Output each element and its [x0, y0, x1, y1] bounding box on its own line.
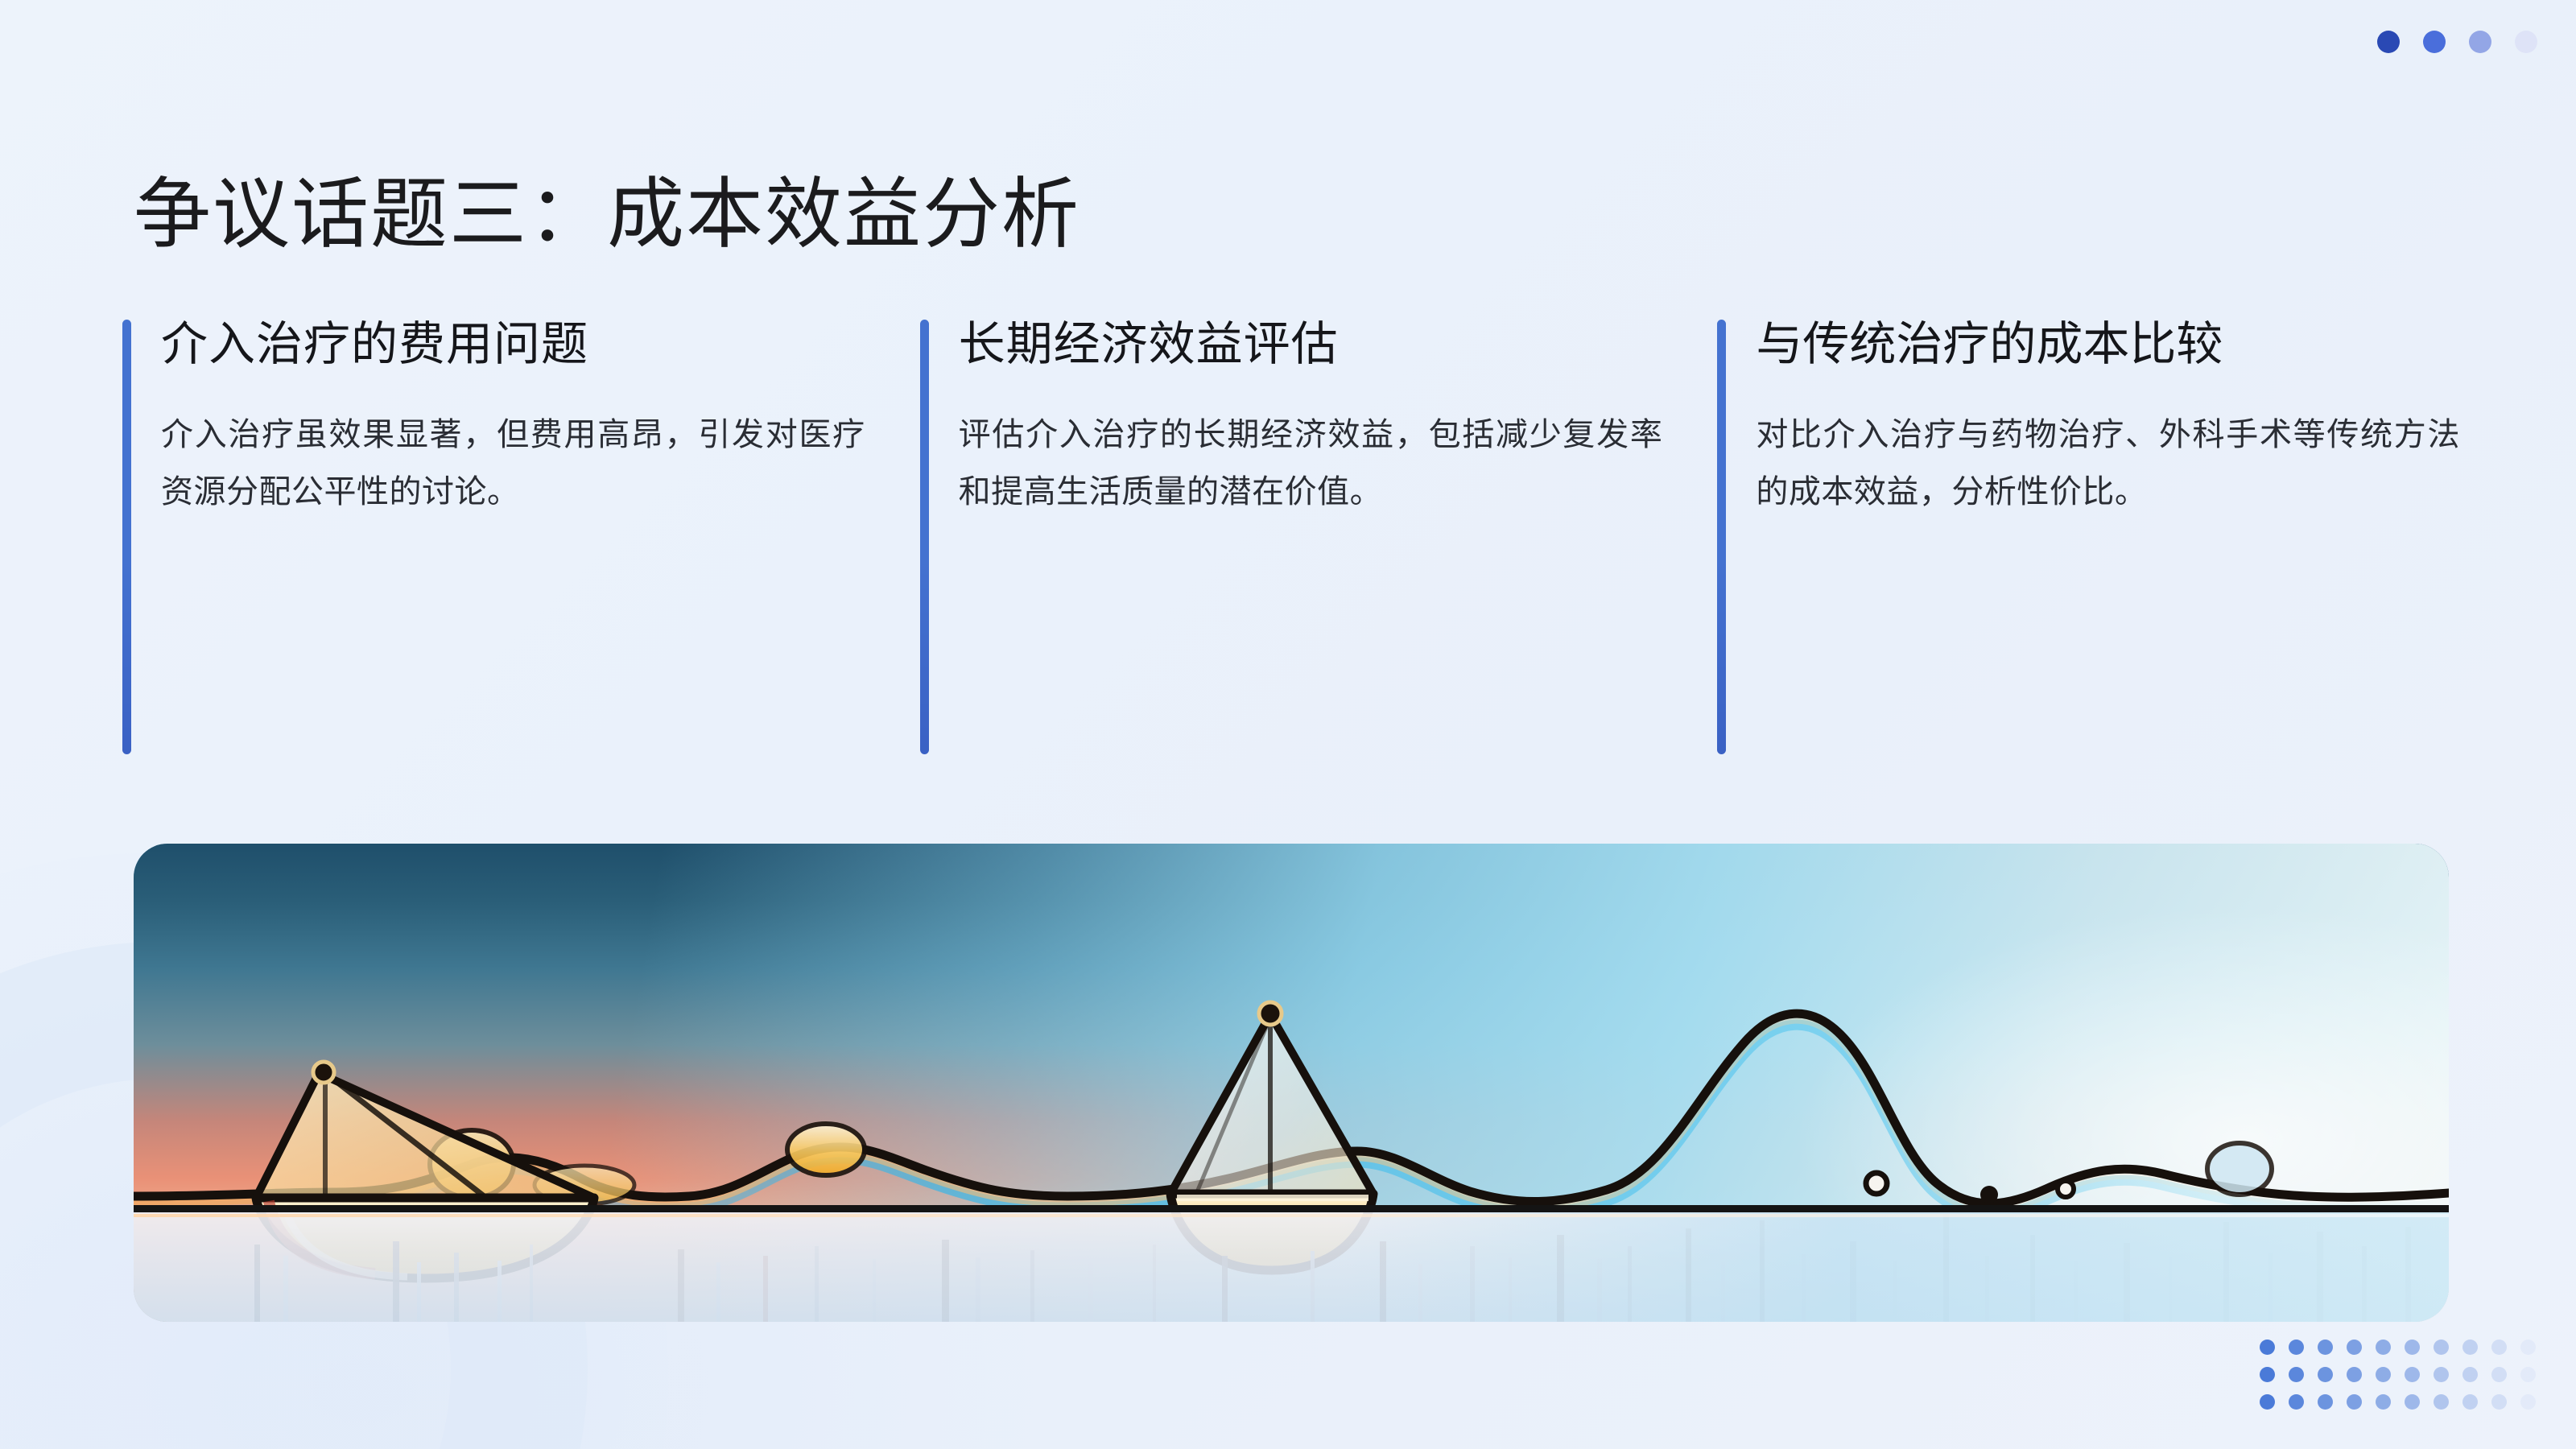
decorative-dot-grid: [2252, 1333, 2542, 1415]
grid-dot: [2289, 1367, 2304, 1382]
grid-dot: [2289, 1394, 2304, 1410]
page-dot-3[interactable]: [2469, 31, 2491, 53]
illustration-horizon-line: [134, 1205, 2449, 1212]
grid-dot: [2260, 1340, 2275, 1355]
illustration-horizon-glow: [134, 1214, 2449, 1217]
page-dot-2[interactable]: [2423, 31, 2446, 53]
grid-dot: [2289, 1340, 2304, 1355]
content-columns: 介入治疗的费用问题 介入治疗虽效果显著，但费用高昂，引发对医疗资源分配公平性的讨…: [122, 316, 2460, 757]
grid-dot: [2405, 1340, 2420, 1355]
grid-dot: [2462, 1367, 2478, 1382]
cost-benefit-illustration: [134, 844, 2449, 1322]
grid-dot: [2376, 1367, 2391, 1382]
grid-dot: [2520, 1367, 2536, 1382]
column-heading-2: 长期经济效益评估: [959, 316, 1663, 374]
page-dot-1[interactable]: [2377, 31, 2400, 53]
content-column-2: 长期经济效益评估 评估介入治疗的长期经济效益，包括减少复发率和提高生活质量的潜在…: [920, 316, 1663, 757]
slide-root: 争议话题三：成本效益分析 介入治疗的费用问题 介入治疗虽效果显著，但费用高昂，引…: [0, 0, 2576, 1449]
column-accent-bar-1: [122, 320, 131, 754]
page-title: 争议话题三：成本效益分析: [134, 169, 1080, 260]
column-accent-bar-3: [1717, 320, 1726, 754]
grid-dot: [2318, 1367, 2333, 1382]
column-body-2: 评估介入治疗的长期经济效益，包括减少复发率和提高生活质量的潜在价值。: [959, 406, 1663, 520]
grid-dot: [2347, 1367, 2362, 1382]
column-body-1: 介入治疗虽效果显著，但费用高昂，引发对医疗资源分配公平性的讨论。: [161, 406, 865, 520]
grid-dot: [2462, 1340, 2478, 1355]
column-heading-1: 介入治疗的费用问题: [161, 316, 865, 374]
grid-dot: [2491, 1367, 2507, 1382]
grid-dot: [2491, 1394, 2507, 1410]
column-heading-3: 与传统治疗的成本比较: [1756, 316, 2460, 374]
grid-dot: [2347, 1394, 2362, 1410]
grid-dot: [2405, 1367, 2420, 1382]
grid-dot: [2434, 1340, 2449, 1355]
grid-dot: [2434, 1367, 2449, 1382]
page-dot-4[interactable]: [2515, 31, 2537, 53]
illustration-water-tint: [1338, 1211, 2449, 1322]
grid-dot: [2318, 1394, 2333, 1410]
slide-progress-dots[interactable]: [2377, 31, 2537, 53]
grid-dot: [2491, 1340, 2507, 1355]
grid-dot: [2434, 1394, 2449, 1410]
column-accent-bar-2: [920, 320, 929, 754]
grid-dot: [2405, 1394, 2420, 1410]
grid-dot: [2462, 1394, 2478, 1410]
grid-dot: [2376, 1394, 2391, 1410]
grid-dot: [2347, 1340, 2362, 1355]
grid-dot: [2260, 1394, 2275, 1410]
grid-dot: [2260, 1367, 2275, 1382]
grid-dot: [2520, 1394, 2536, 1410]
grid-dot: [2520, 1340, 2536, 1355]
content-column-3: 与传统治疗的成本比较 对比介入治疗与药物治疗、外科手术等传统方法的成本效益，分析…: [1717, 316, 2460, 757]
grid-dot: [2318, 1340, 2333, 1355]
content-column-1: 介入治疗的费用问题 介入治疗虽效果显著，但费用高昂，引发对医疗资源分配公平性的讨…: [122, 316, 865, 757]
grid-dot: [2376, 1340, 2391, 1355]
column-body-3: 对比介入治疗与药物治疗、外科手术等传统方法的成本效益，分析性价比。: [1756, 406, 2460, 520]
